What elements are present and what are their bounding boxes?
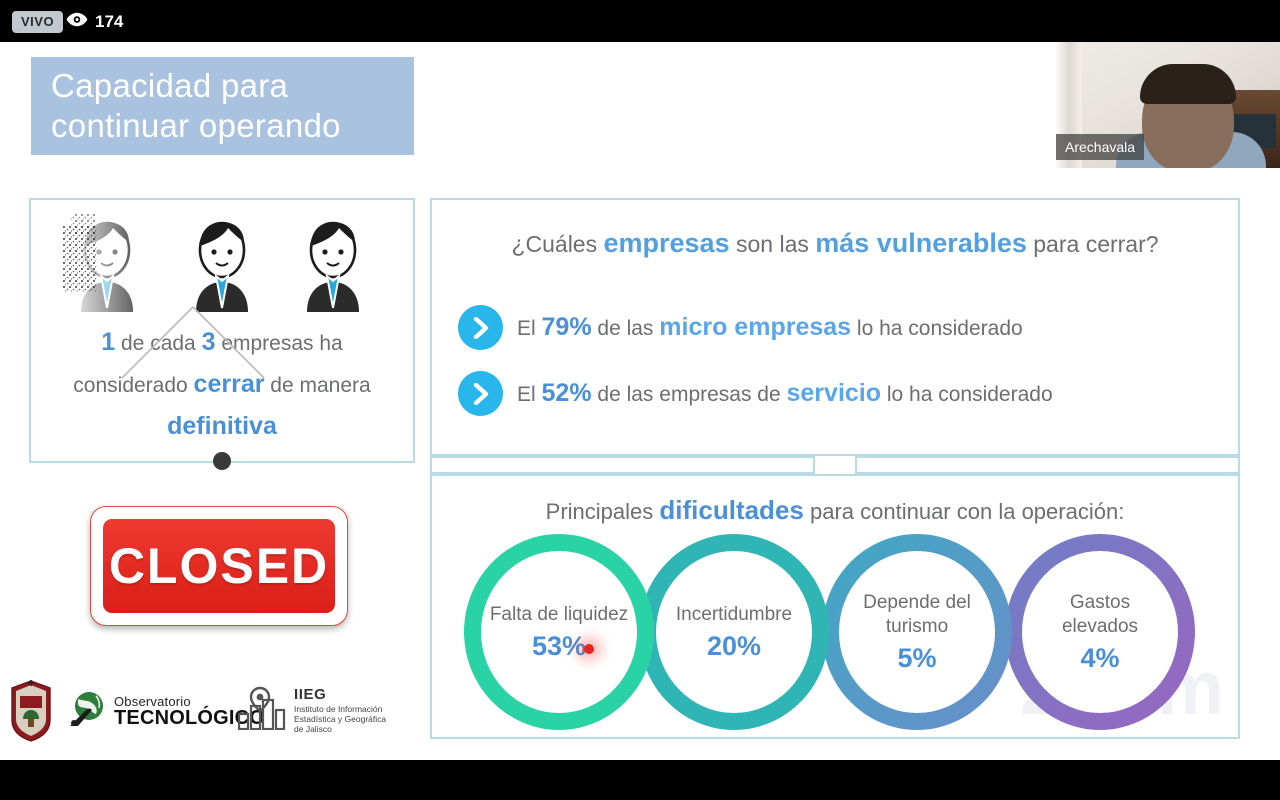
bullet-1-percent: 79%	[542, 313, 592, 341]
hanger-pin-dot	[213, 452, 231, 470]
eye-icon	[66, 12, 88, 32]
three-businessmen-icon	[31, 208, 413, 316]
ring-item-3: Gastos elevados 4%	[1005, 534, 1195, 730]
question-keyword-vulnerables: más vulnerables	[815, 228, 1027, 258]
businessman-icon-3	[285, 208, 381, 316]
live-badge: VIVO	[12, 11, 63, 33]
iieg-text: IIEG Instituto de Información Estadístic…	[294, 686, 386, 734]
bullet-item-micro-empresas: El 79% de las micro empresas lo ha consi…	[458, 305, 1023, 350]
bullet-2-pre: El	[517, 383, 542, 406]
difficulties-card: Principales dificultades para continuar …	[430, 474, 1240, 739]
question-part-1: ¿Cuáles	[511, 231, 603, 257]
iieg-buildings-icon	[238, 686, 286, 735]
subtitle-part-3: para continuar con la operación:	[804, 499, 1124, 524]
slide-title-line-1: Capacidad para	[51, 66, 414, 106]
bullet-text-1: El 79% de las micro empresas lo ha consi…	[517, 313, 1023, 343]
iieg-logo: IIEG Instituto de Información Estadístic…	[238, 686, 386, 735]
bullet-2-post: lo ha considerado	[881, 383, 1053, 406]
ring-label-0: Falta de liquidez	[490, 603, 628, 627]
subtitle-keyword: dificultades	[659, 495, 803, 525]
ring-value-3: 4%	[1080, 643, 1119, 674]
stat-keyword-definitiva: definitiva	[167, 412, 277, 440]
viewer-count-group: 174	[66, 12, 123, 32]
participant-name-label: Arechavala	[1056, 134, 1144, 160]
businessman-icon-2	[174, 208, 270, 316]
ring-item-2: Depende del turismo 5%	[822, 534, 1012, 730]
closure-stat-line-3: definitiva	[41, 406, 403, 448]
iieg-subtitle-2: Estadística y Geográfica	[294, 714, 386, 724]
closed-sign-text: CLOSED	[109, 537, 329, 595]
bullet-1-highlight: micro empresas	[659, 313, 851, 341]
difficulties-subtitle: Principales dificultades para continuar …	[432, 496, 1238, 526]
closed-sign: CLOSED	[90, 506, 348, 626]
chevron-right-circle-icon	[458, 305, 503, 350]
ring-value-0: 53%	[532, 631, 586, 662]
hanger-strings	[0, 304, 386, 394]
bullet-2-mid: de las empresas de	[592, 383, 787, 406]
question-keyword-empresas: empresas	[604, 228, 730, 258]
iieg-subtitle-3: de Jalisco	[294, 724, 386, 734]
slide-title-line-2: continuar operando	[51, 106, 414, 146]
observatorio-tecnologico-logo: Observatorio TECNOLÓGICO	[66, 688, 265, 735]
ring-label-3: Gastos elevados	[1030, 591, 1170, 639]
ring-value-2: 5%	[897, 643, 936, 674]
laser-pointer-dot	[584, 644, 594, 654]
vulnerable-companies-card: ¿Cuáles empresas son las más vulnerables…	[430, 198, 1240, 456]
vulnerability-question: ¿Cuáles empresas son las más vulnerables…	[432, 228, 1238, 259]
iieg-title: IIEG	[294, 686, 386, 704]
participant-hair	[1140, 64, 1236, 104]
viewer-count: 174	[95, 12, 123, 32]
globe-antenna-icon	[66, 688, 108, 735]
chevron-right-circle-icon	[458, 371, 503, 416]
bullet-text-2: El 52% de las empresas de servicio lo ha…	[517, 379, 1053, 409]
ring-item-0: Falta de liquidez 53%	[464, 534, 654, 730]
screen-root: VIVO 174 Capacidad para continuar operan…	[0, 0, 1280, 800]
subtitle-part-1: Principales	[546, 499, 660, 524]
card-connector-left	[430, 456, 815, 474]
iieg-subtitle-1: Instituto de Información	[294, 704, 386, 714]
bullet-1-post: lo ha considerado	[851, 317, 1023, 340]
difficulties-ring-chart: Falta de liquidez 53% Incertidumbre 20% …	[454, 534, 1220, 730]
bullet-2-highlight: servicio	[787, 379, 882, 407]
ring-label-1: Incertidumbre	[676, 603, 792, 627]
footer-logos: Observatorio TECNOLÓGICO IIEG	[0, 678, 420, 752]
bullet-1-pre: El	[517, 317, 542, 340]
question-part-3: son las	[730, 231, 816, 257]
stream-status-bar: VIVO 174	[0, 0, 1280, 42]
closed-sign-inner: CLOSED	[103, 519, 335, 613]
bullet-1-mid: de las	[592, 317, 660, 340]
ring-label-2: Depende del turismo	[847, 591, 987, 639]
udg-crest-logo	[8, 680, 54, 742]
question-part-5: para cerrar?	[1027, 231, 1159, 257]
ring-value-1: 20%	[707, 631, 761, 662]
card-connector-right	[855, 456, 1240, 474]
ring-item-1: Incertidumbre 20%	[639, 534, 829, 730]
businessman-disintegrating-icon	[63, 208, 159, 316]
webcam-tile[interactable]: Arechavala	[1056, 42, 1280, 168]
bullet-item-servicio: El 52% de las empresas de servicio lo ha…	[458, 371, 1053, 416]
bullet-2-percent: 52%	[542, 379, 592, 407]
slide-title-banner: Capacidad para continuar operando	[31, 57, 414, 155]
